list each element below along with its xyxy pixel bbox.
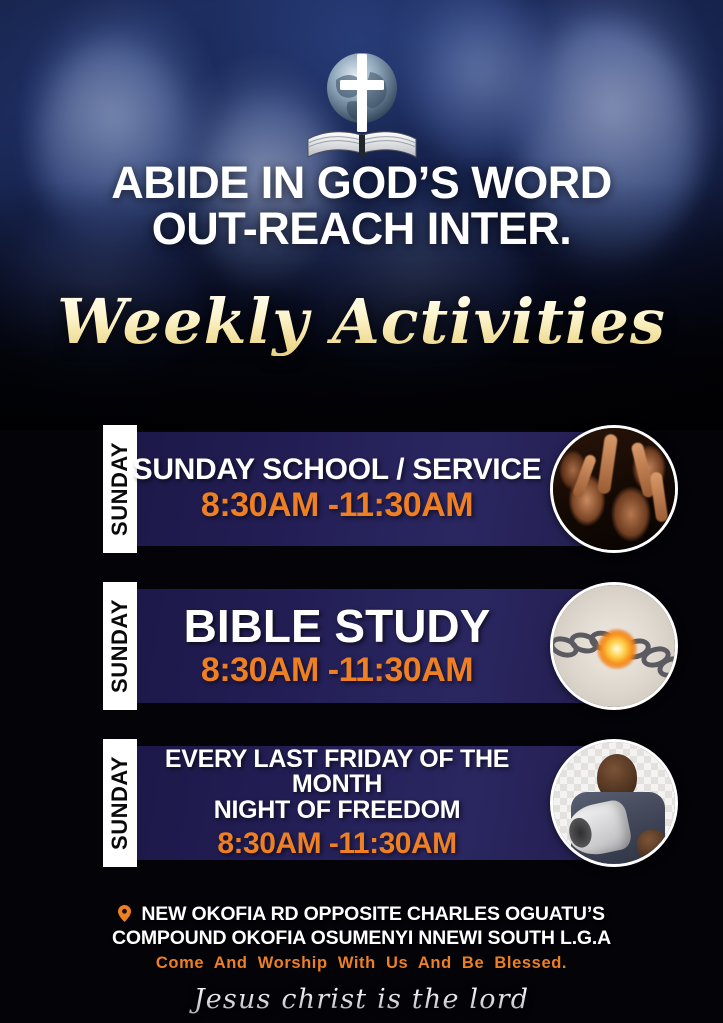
man-with-megaphone-photo xyxy=(550,739,678,867)
weekly-activities-subtitle: Weekly Activities xyxy=(0,288,723,356)
breaking-chain-image xyxy=(553,585,675,707)
address-line-1-wrapper: NEW OKOFIA RD OPPOSITE CHARLES OGUATU’S xyxy=(28,903,695,927)
activity-content: SUNDAY SCHOOL / SERVICE 8:30AM -11:30AM xyxy=(137,432,537,546)
activity-list: SUNDAY SUNDAY SCHOOL / SERVICE 8:30AM -1… xyxy=(0,425,723,896)
day-badge: SUNDAY xyxy=(103,582,137,710)
breaking-chain-photo xyxy=(550,582,678,710)
day-badge-label: SUNDAY xyxy=(107,442,133,536)
activity-content: BIBLE STUDY 8:30AM -11:30AM xyxy=(137,589,537,703)
activity-row: SUNDAY EVERY LAST FRIDAY OF THE MONTH NI… xyxy=(0,739,723,867)
worship-crowd-image xyxy=(553,428,675,550)
title-line-1: ABIDE IN GOD’S WORD xyxy=(30,160,693,206)
worship-crowd-photo xyxy=(550,425,678,553)
activity-name: BIBLE STUDY xyxy=(184,603,491,650)
day-badge: SUNDAY xyxy=(103,739,137,867)
activity-row: SUNDAY BIBLE STUDY 8:30AM -11:30AM xyxy=(0,582,723,710)
pointing-hand xyxy=(637,830,667,858)
day-badge-label: SUNDAY xyxy=(107,599,133,693)
page-title: ABIDE IN GOD’S WORD OUT-REACH INTER. xyxy=(0,160,723,252)
man-with-megaphone-image xyxy=(553,742,675,864)
location-pin-glyph xyxy=(118,905,131,922)
activity-time: 8:30AM -11:30AM xyxy=(217,828,456,860)
raised-arm xyxy=(572,453,597,498)
church-flyer: ABIDE IN GOD’S WORD OUT-REACH INTER. Wee… xyxy=(0,0,723,1023)
day-badge-label: SUNDAY xyxy=(107,756,133,850)
activity-content: EVERY LAST FRIDAY OF THE MONTH NIGHT OF … xyxy=(137,746,537,860)
day-badge: SUNDAY xyxy=(103,425,137,553)
raised-arm xyxy=(650,471,669,522)
tagline: Come And Worship With Us And Be Blessed. xyxy=(28,954,695,973)
location-pin-icon xyxy=(118,905,131,927)
activity-time: 8:30AM -11:30AM xyxy=(201,653,473,689)
globe-cross-bible-logo xyxy=(296,40,428,160)
activity-name: EVERY LAST FRIDAY OF THE MONTH xyxy=(143,747,531,799)
activity-row: SUNDAY SUNDAY SCHOOL / SERVICE 8:30AM -1… xyxy=(0,425,723,553)
footer: NEW OKOFIA RD OPPOSITE CHARLES OGUATU’S … xyxy=(0,903,723,1015)
raised-arm xyxy=(597,433,618,494)
activity-name: SUNDAY SCHOOL / SERVICE xyxy=(133,455,542,486)
title-line-2: OUT-REACH INTER. xyxy=(30,206,693,252)
activity-name-line-2: NIGHT OF FREEDOM xyxy=(214,798,461,824)
address-line-2: COMPOUND OKOFIA OSUMENYI NNEWI SOUTH L.G… xyxy=(28,927,695,949)
activity-time: 8:30AM -11:30AM xyxy=(201,488,473,524)
address-line-1: NEW OKOFIA RD OPPOSITE CHARLES OGUATU’S xyxy=(141,903,604,925)
spark-flash xyxy=(597,629,637,669)
globe-cross-bible-icon xyxy=(296,40,428,160)
blessing-text: Jesus christ is the lord xyxy=(28,984,695,1015)
